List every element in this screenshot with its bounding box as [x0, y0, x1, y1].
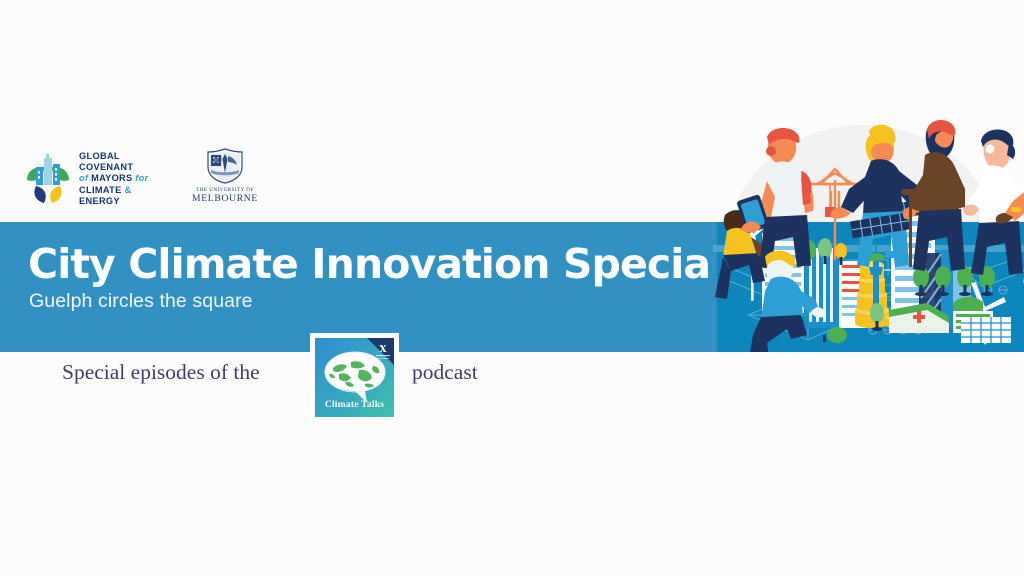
melbourne-line-2: MELBOURNE: [190, 193, 260, 204]
gcom-for: for: [135, 173, 148, 183]
university-of-melbourne-logo: THE UNIVERSITY OF MELBOURNE: [190, 146, 260, 208]
gcom-line-2: of MAYORS for: [79, 173, 170, 184]
page-subtitle: Guelph circles the square: [29, 290, 253, 313]
melbourne-crest-icon: [202, 147, 248, 185]
city-climate-people-illustration: [713, 85, 1024, 352]
gcom-line-3: CLIMATE & ENERGY: [79, 185, 170, 207]
climate-talks-artwork: X Climate Talk: [315, 338, 394, 417]
poster-canvas: GLOBAL COVENANT of MAYORS for CLIMATE & …: [0, 0, 1024, 576]
global-covenant-of-mayors-logo: GLOBAL COVENANT of MAYORS for CLIMATE & …: [22, 150, 170, 208]
gcom-of: of: [79, 173, 88, 183]
gcom-line-1: GLOBAL COVENANT: [79, 151, 170, 173]
partner-logos-row: GLOBAL COVENANT of MAYORS for CLIMATE & …: [0, 146, 700, 212]
climate-talks-label: Climate Talks: [315, 399, 394, 410]
gcom-mayors: MAYORS: [91, 173, 132, 183]
gcom-climate: CLIMATE: [79, 185, 122, 195]
gcom-wordmark: GLOBAL COVENANT of MAYORS for CLIMATE & …: [79, 151, 170, 207]
gcom-mark-icon: [22, 153, 74, 205]
page-title: City Climate Innovation Special: [28, 240, 723, 288]
gcom-ampersand: &: [125, 185, 132, 195]
caption-prefix: Special episodes of the: [62, 360, 260, 385]
svg-text:X: X: [380, 345, 387, 355]
climate-talks-podcast-logo[interactable]: X Climate Talk: [310, 333, 399, 422]
gcom-energy: ENERGY: [79, 196, 120, 206]
caption-suffix: podcast: [412, 360, 478, 385]
